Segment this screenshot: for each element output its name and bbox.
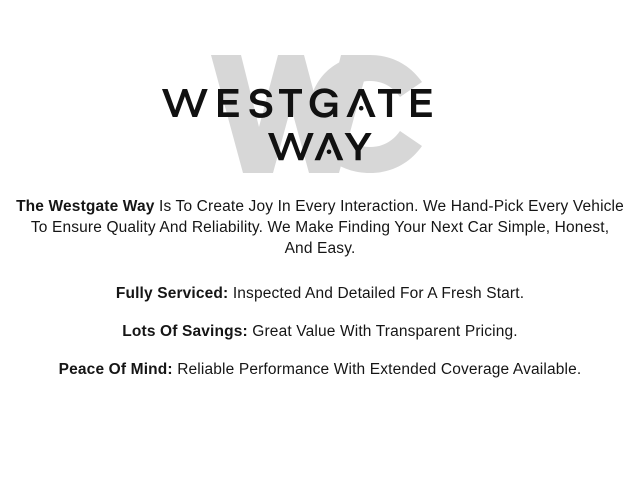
intro-paragraph: The Westgate Way Is To Create Joy In Eve… (16, 196, 624, 259)
spacer-3 (16, 342, 624, 359)
feature-label-lots-of-savings: Lots Of Savings: (122, 323, 248, 340)
brand-wordmark-way (0, 132, 640, 161)
intro-lead-bold: The Westgate Way (16, 198, 155, 215)
spacer-1 (16, 259, 624, 283)
spacer-2 (16, 304, 624, 321)
feature-text-lots-of-savings: Great Value With Transparent Pricing. (248, 323, 518, 340)
feature-item-lots-of-savings: Lots Of Savings: Great Value With Transp… (16, 321, 624, 342)
brand-wordmark-westgate (0, 88, 640, 118)
dealer-info-card: The Westgate Way Is To Create Joy In Eve… (0, 0, 640, 480)
dealer-value-proposition: The Westgate Way Is To Create Joy In Eve… (16, 196, 624, 380)
feature-label-peace-of-mind: Peace Of Mind: (59, 361, 173, 378)
feature-item-peace-of-mind: Peace Of Mind: Reliable Performance With… (16, 359, 624, 380)
feature-label-fully-serviced: Fully Serviced: (116, 285, 229, 302)
feature-text-fully-serviced: Inspected And Detailed For A Fresh Start… (228, 285, 524, 302)
brand-logo-lockup (0, 48, 640, 180)
brand-wordmark (0, 48, 640, 180)
feature-text-peace-of-mind: Reliable Performance With Extended Cover… (173, 361, 582, 378)
feature-item-fully-serviced: Fully Serviced: Inspected And Detailed F… (16, 283, 624, 304)
